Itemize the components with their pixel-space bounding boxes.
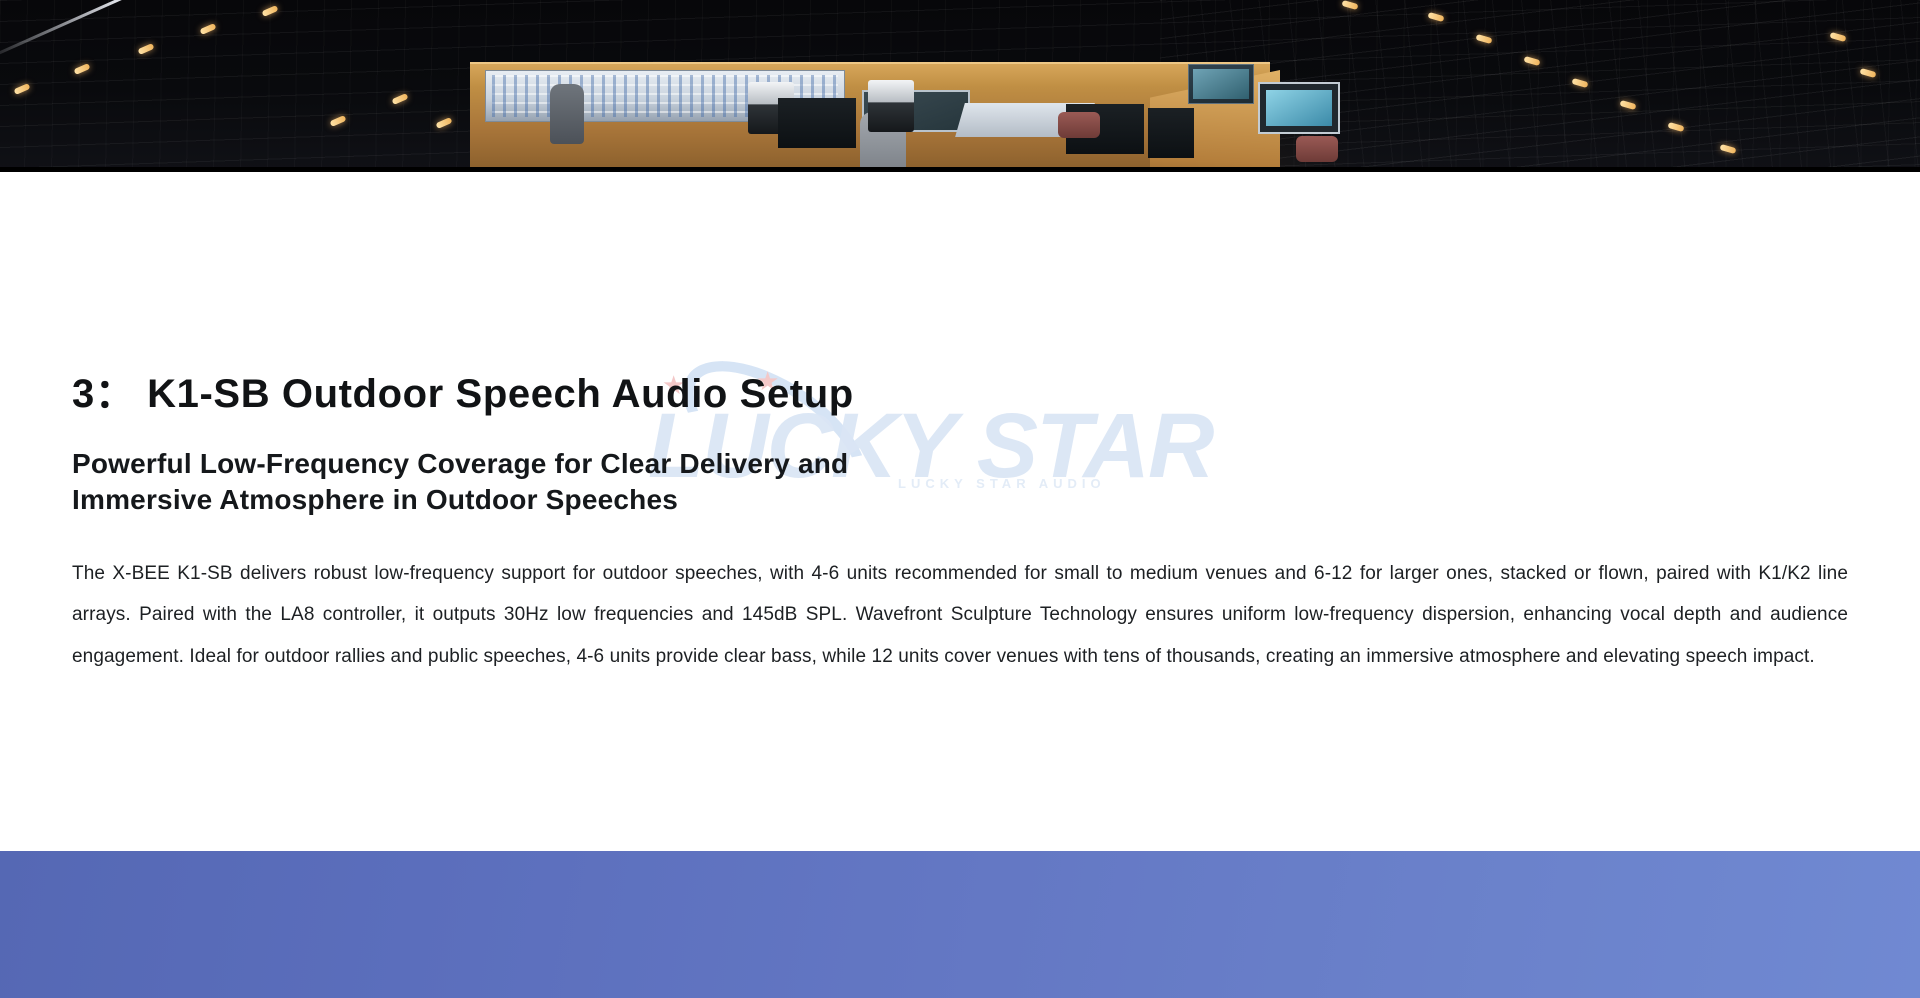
laptop-icon [1188,64,1254,104]
hero-photo-banner [0,0,1920,172]
operator-chair [550,84,584,144]
red-seat [1058,112,1100,138]
red-seat [1296,136,1338,162]
page-root: ★ ★ LUCKY STAR LUCKY STAR AUDIO 3： K1-SB… [0,0,1920,998]
speaker-unit [868,80,914,132]
section-subtitle: Powerful Low-Frequency Coverage for Clea… [72,446,1302,519]
content-inner: 3： K1-SB Outdoor Speech Audio Setup Powe… [0,372,1920,677]
page-title: 3： K1-SB Outdoor Speech Audio Setup [72,372,1848,416]
subtitle-line-2: Immersive Atmosphere in Outdoor Speeches [72,484,678,515]
equipment-case [1148,108,1194,158]
footer-gradient-band [0,851,1920,998]
article-content: 3： K1-SB Outdoor Speech Audio Setup Powe… [0,172,1920,677]
equipment-rack [778,98,856,148]
subtitle-line-1: Powerful Low-Frequency Coverage for Clea… [72,448,848,479]
monitor-icon [1258,82,1340,134]
section-body-paragraph: The X-BEE K1-SB delivers robust low-freq… [72,553,1848,677]
